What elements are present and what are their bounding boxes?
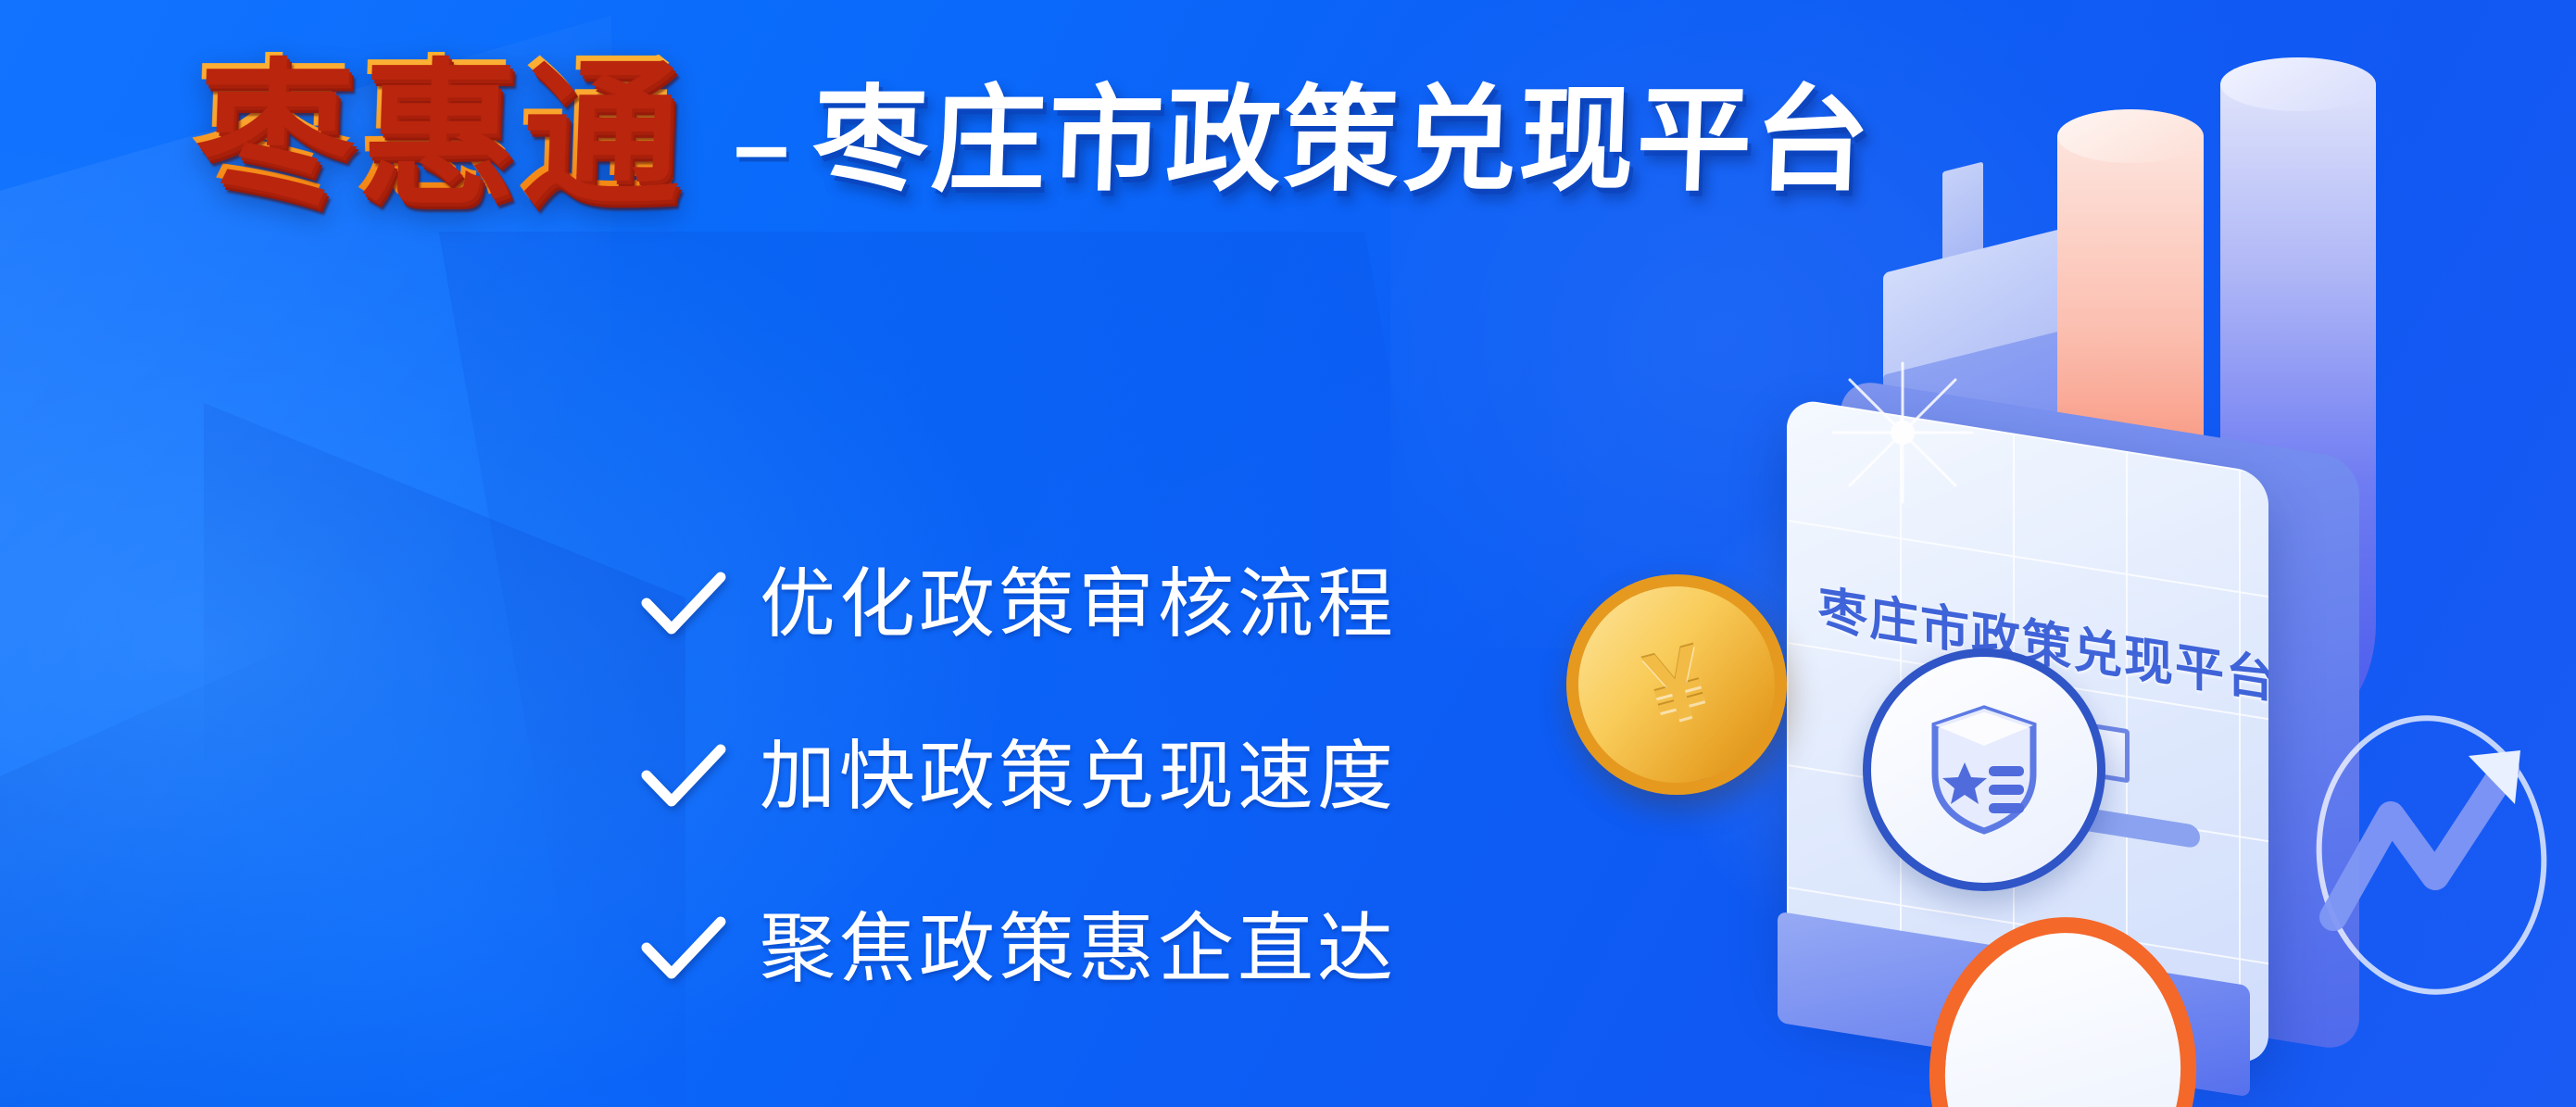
feature-item: 聚焦政策惠企直达 xyxy=(639,863,1602,1036)
feature-label: 加快政策兑现速度 xyxy=(760,739,1397,815)
shield-star-icon xyxy=(1928,705,2041,835)
background-shape-mid xyxy=(204,403,685,1107)
feature-label: 聚焦政策惠企直达 xyxy=(760,912,1397,987)
headline-separator: – xyxy=(734,94,789,195)
feature-item: 加快政策兑现速度 xyxy=(639,691,1602,863)
check-icon xyxy=(639,916,728,983)
growth-arrow-icon xyxy=(2306,704,2556,991)
check-icon xyxy=(639,572,728,638)
sparkle-icon xyxy=(1815,345,1991,521)
brand-logo-text: 枣惠通 xyxy=(190,52,685,209)
seal-badge-icon xyxy=(1863,648,2105,891)
check-icon xyxy=(639,744,728,811)
background-shape-lower xyxy=(0,463,704,1107)
banner-illustration: 枣庄市政策兑现平台 xyxy=(1668,0,2576,1107)
promo-banner: 枣惠通 – 枣庄市政策兑现平台 优化政策审核流程 加快政策兑现速度 xyxy=(0,0,2576,1107)
feature-label: 优化政策审核流程 xyxy=(760,567,1397,643)
coin-symbol: ¥ xyxy=(1637,629,1716,740)
feature-list: 优化政策审核流程 加快政策兑现速度 聚焦政策惠企直达 xyxy=(639,519,1602,1036)
feature-item: 优化政策审核流程 xyxy=(639,519,1602,691)
